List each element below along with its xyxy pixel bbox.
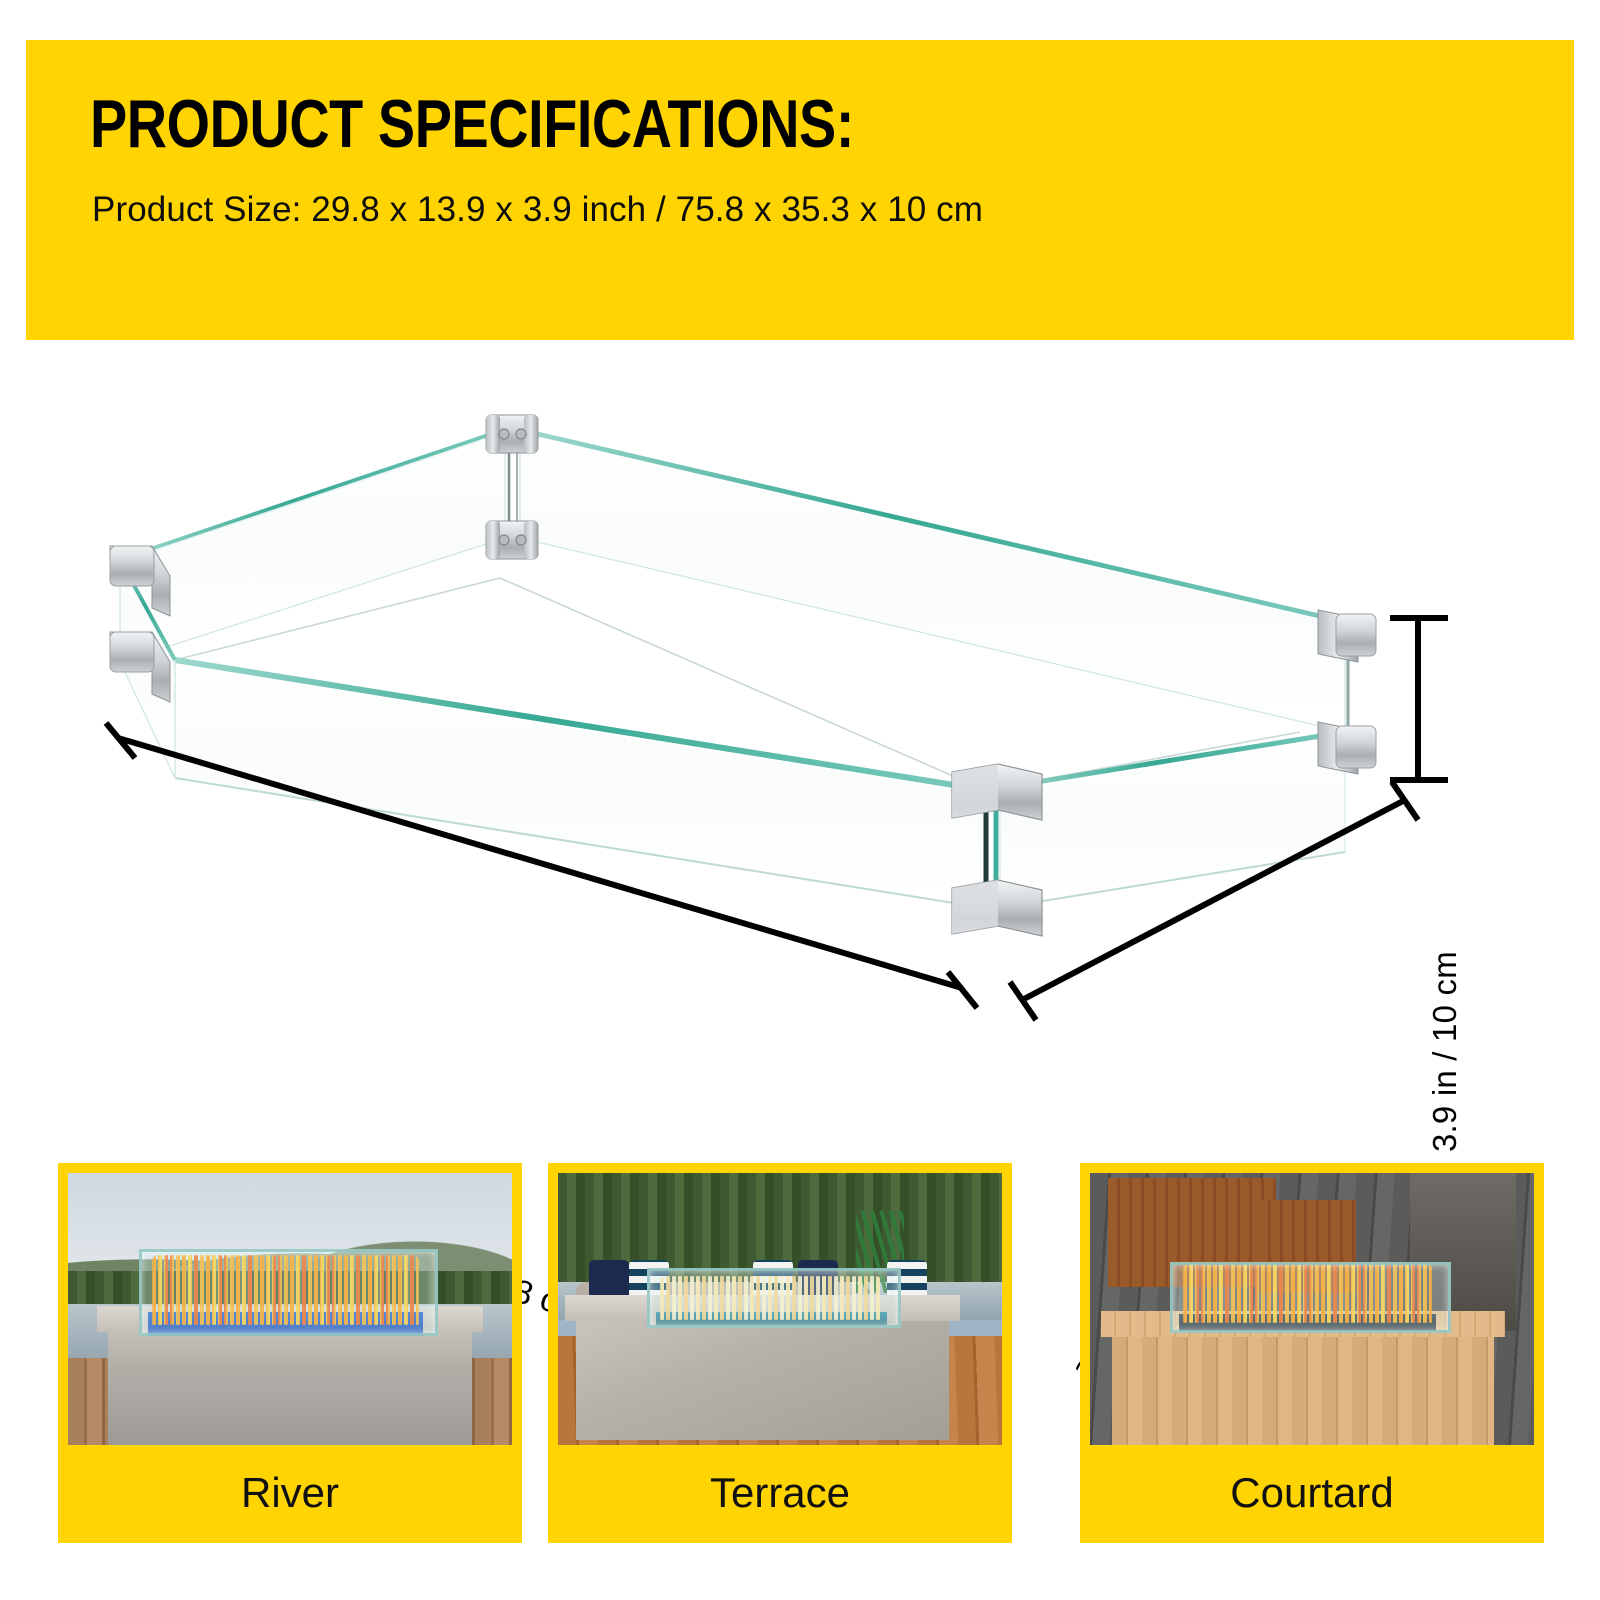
scene-label-terrace: Terrace: [558, 1445, 1002, 1543]
glass-panel-front-right: [1000, 732, 1345, 908]
wind-guard-illustration: [0, 360, 1600, 1120]
bracket-back-seam-bottom: [486, 521, 538, 559]
glass-panel-back-left: [120, 430, 505, 662]
glass-panel-front-left: [175, 660, 985, 908]
scene-photo-river: [68, 1173, 512, 1445]
scene-photo-terrace: [558, 1173, 1002, 1445]
glass-wind-guard: [1170, 1262, 1451, 1333]
dimension-line-height: [1390, 618, 1448, 780]
scene-card-courtard[interactable]: Courtard: [1080, 1163, 1544, 1543]
product-diagram: 29.8 in / 75.8 cm 13.9 in / 35.3 cm 3.9 …: [0, 360, 1600, 1120]
bracket-right-corner-top: [1318, 610, 1376, 662]
dimension-label-height: 3.9 in / 10 cm: [1426, 951, 1464, 1152]
scene-label-river: River: [68, 1445, 512, 1543]
wood-fire-table: [1112, 1325, 1494, 1445]
glass-wind-guard: [139, 1249, 438, 1337]
scene-card-river[interactable]: River: [58, 1163, 522, 1543]
scene-photo-courtard: [1090, 1173, 1534, 1445]
concrete-fire-table: [108, 1320, 472, 1445]
scene-label-courtard: Courtard: [1090, 1445, 1534, 1543]
scene-card-terrace[interactable]: Terrace: [548, 1163, 1012, 1543]
spec-banner: PRODUCT SPECIFICATIONS: Product Size: 29…: [26, 40, 1574, 340]
page-title: PRODUCT SPECIFICATIONS:: [90, 90, 854, 158]
bracket-back-seam-top: [486, 415, 538, 453]
scene-card-row: River Terrace: [0, 1163, 1600, 1563]
bracket-front-corner-bottom: [952, 880, 1042, 936]
concrete-fire-table: [576, 1309, 949, 1440]
product-spec-page: PRODUCT SPECIFICATIONS: Product Size: 29…: [0, 0, 1600, 1600]
glass-wind-guard: [647, 1268, 902, 1328]
glass-panel-back-right: [520, 430, 1345, 732]
product-size-text: Product Size: 29.8 x 13.9 x 3.9 inch / 7…: [92, 190, 983, 230]
bracket-right-corner-bottom: [1318, 722, 1376, 774]
